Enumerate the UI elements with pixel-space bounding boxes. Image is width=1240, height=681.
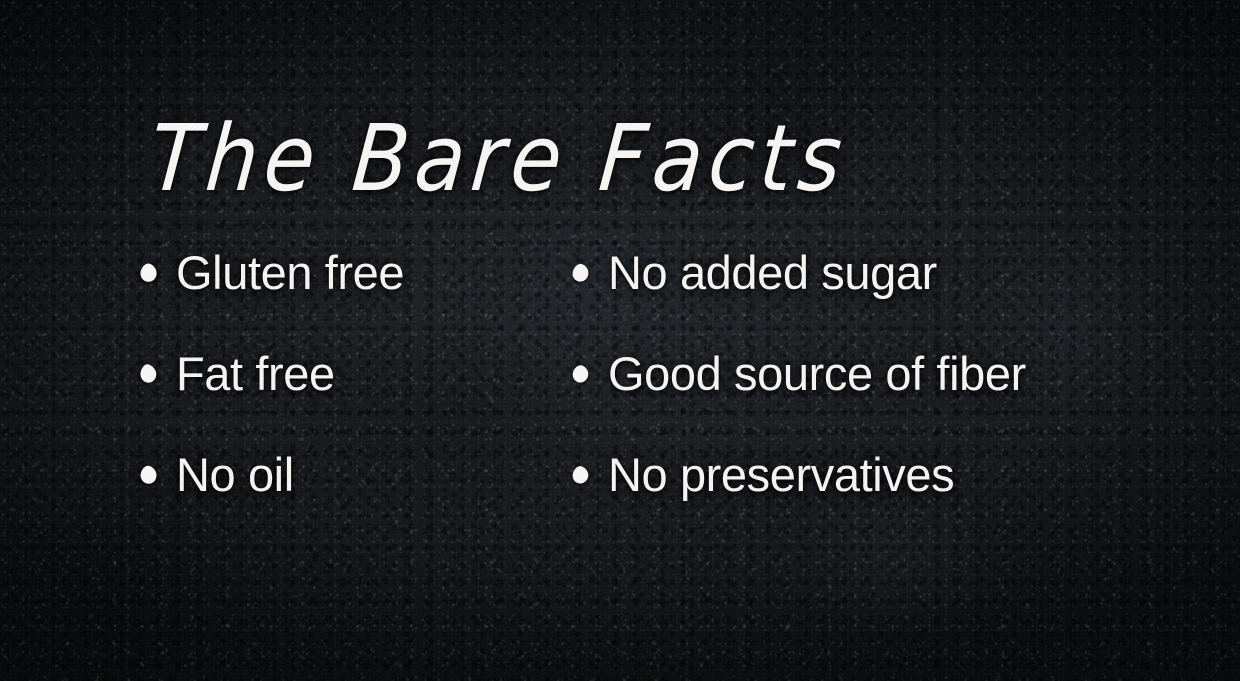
fact-label: No preservatives xyxy=(608,448,954,502)
bare-facts-poster: The Bare Facts Gluten free No added suga… xyxy=(0,0,1240,681)
fact-label: Good source of fiber xyxy=(608,347,1026,401)
fact-label: Gluten free xyxy=(176,246,404,300)
pebble-bullet-icon xyxy=(140,465,157,484)
pebble-bullet-icon xyxy=(572,364,589,383)
fact-item-good-source-of-fiber: Good source of fiber xyxy=(572,347,1150,448)
pebble-bullet-icon xyxy=(140,364,157,383)
pebble-bullet-icon xyxy=(140,263,157,282)
poster-title: The Bare Facts xyxy=(145,101,1056,224)
fact-item-no-oil: No oil xyxy=(140,448,572,549)
fact-label: Fat free xyxy=(176,347,335,401)
fact-label: No added sugar xyxy=(608,246,937,300)
poster-content: The Bare Facts Gluten free No added suga… xyxy=(0,0,1240,681)
pebble-bullet-icon xyxy=(572,465,589,484)
fact-label: No oil xyxy=(176,448,294,502)
fact-item-no-added-sugar: No added sugar xyxy=(572,246,1150,347)
fact-item-gluten-free: Gluten free xyxy=(140,246,572,347)
fact-item-fat-free: Fat free xyxy=(140,347,572,448)
pebble-bullet-icon xyxy=(572,263,589,282)
fact-item-no-preservatives: No preservatives xyxy=(572,448,1150,549)
facts-list: Gluten free No added sugar Fat free xyxy=(140,246,1150,549)
